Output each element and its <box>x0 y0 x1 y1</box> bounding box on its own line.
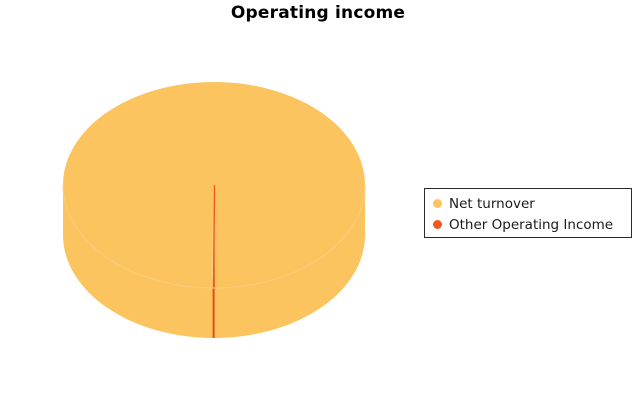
pie-slice-side-other-operating-income <box>213 288 215 338</box>
legend-dot-icon <box>433 199 442 208</box>
legend-item-other-operating-income[interactable]: Other Operating Income <box>431 214 631 235</box>
chart-title: Operating income <box>0 3 636 23</box>
pie-slice-edge-line <box>214 185 215 288</box>
pie-chart: Operating income <box>0 0 636 400</box>
chart-legend: Net turnover Other Operating Income <box>424 188 632 238</box>
pie-plot-area <box>40 60 400 370</box>
legend-item-label: Net turnover <box>449 197 535 211</box>
legend-item-label: Other Operating Income <box>449 218 613 232</box>
legend-dot-icon <box>433 220 442 229</box>
legend-item-net-turnover[interactable]: Net turnover <box>431 193 631 214</box>
pie-svg <box>40 60 400 370</box>
